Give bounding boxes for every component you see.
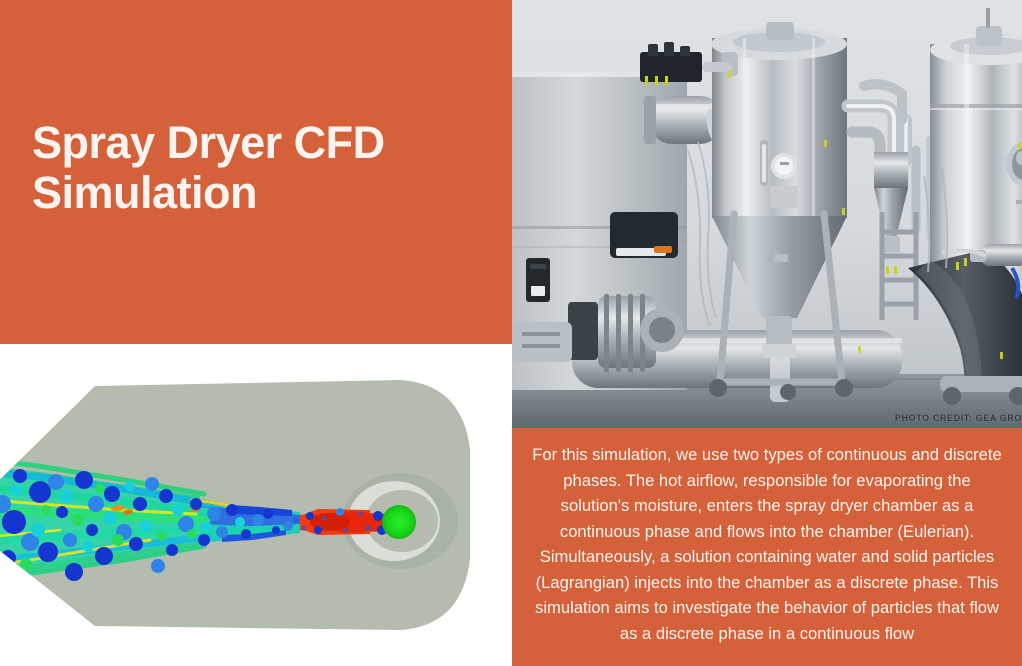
- title-panel: Spray Dryer CFD Simulation: [0, 0, 512, 344]
- description-text: For this simulation, we use two types of…: [530, 442, 1004, 646]
- cfd-simulation-image: [0, 344, 512, 666]
- spray-dryer-photo: [512, 0, 1022, 428]
- equipment-photo-panel: PHOTO CREDIT: GEA GRO: [512, 0, 1022, 428]
- description-panel: For this simulation, we use two types of…: [512, 428, 1022, 666]
- page-title-line1: Spray Dryer CFD: [32, 118, 482, 168]
- main-tank-2: [930, 8, 1022, 280]
- poster-root: Spray Dryer CFD Simulation: [0, 0, 1022, 666]
- page-title: Spray Dryer CFD Simulation: [32, 118, 482, 218]
- page-title-line2: Simulation: [32, 168, 482, 218]
- cfd-simulation-panel: [0, 344, 512, 666]
- nozzle-injection-point: [382, 505, 416, 539]
- photo-credit: PHOTO CREDIT: GEA GRO: [895, 413, 1022, 423]
